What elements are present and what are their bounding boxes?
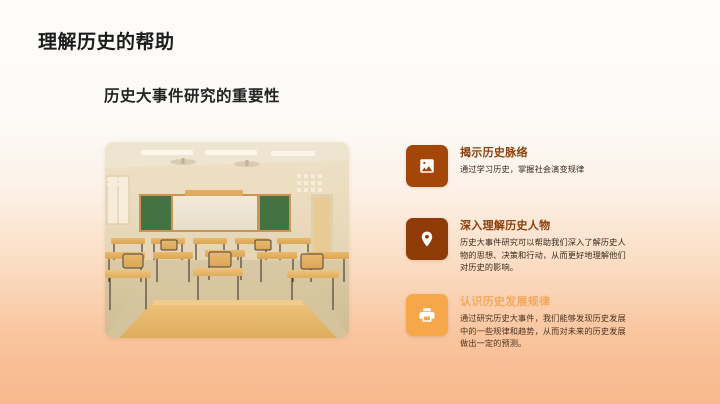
page-title: 理解历史的帮助 <box>38 27 175 54</box>
printer-icon <box>418 306 436 324</box>
feature-heading: 认识历史发展规律 <box>460 295 632 309</box>
feature-text: 认识历史发展规律 通过研究历史大事件，我们能够发现历史发展中的一些规律和趋势，从… <box>460 294 632 351</box>
location-pin-icon <box>418 230 436 248</box>
feature-icon-tile <box>406 218 448 260</box>
feature-block: 揭示历史脉络 通过学习历史，掌握社会演变规律 <box>406 145 632 187</box>
feature-description: 通过研究历史大事件，我们能够发现历史发展中的一些规律和趋势，从而对未来的历史发展… <box>460 313 632 351</box>
feature-block: 认识历史发展规律 通过研究历史大事件，我们能够发现历史发展中的一些规律和趋势，从… <box>406 294 632 351</box>
feature-heading: 深入理解历史人物 <box>460 219 632 233</box>
page-subtitle: 历史大事件研究的重要性 <box>104 84 280 106</box>
feature-text: 深入理解历史人物 历史大事件研究可以帮助我们深入了解历史人物的思想、决策和行动，… <box>460 218 632 275</box>
feature-icon-tile <box>406 145 448 187</box>
classroom-photo <box>105 142 349 338</box>
presentation-slide: 理解历史的帮助 历史大事件研究的重要性 <box>0 0 720 404</box>
feature-icon-tile <box>406 294 448 336</box>
feature-heading: 揭示历史脉络 <box>460 146 632 160</box>
feature-description: 历史大事件研究可以帮助我们深入了解历史人物的思想、决策和行动，从而更好地理解他们… <box>460 237 632 275</box>
feature-description: 通过学习历史，掌握社会演变规律 <box>460 164 632 177</box>
feature-block: 深入理解历史人物 历史大事件研究可以帮助我们深入了解历史人物的思想、决策和行动，… <box>406 218 632 275</box>
image-icon <box>418 157 436 175</box>
classroom-photo-image <box>105 142 349 338</box>
feature-text: 揭示历史脉络 通过学习历史，掌握社会演变规律 <box>460 145 632 177</box>
